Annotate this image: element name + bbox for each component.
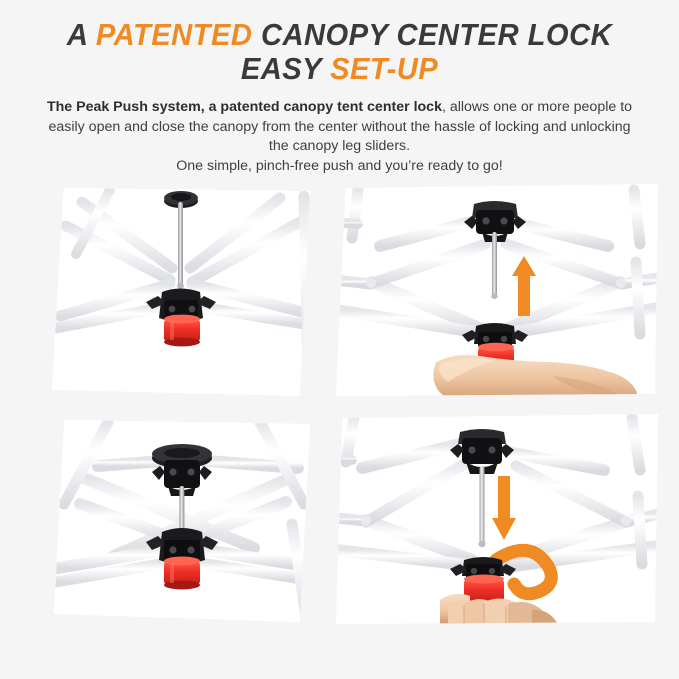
panel-caption: Two hands gripping the red puck with an … <box>336 414 337 415</box>
description-closing-line: One simple, pinch-free push and you’re r… <box>176 158 503 174</box>
headline-accent-setup: SET-UP <box>330 51 438 86</box>
headline-line-2: EASY SET-UP <box>241 51 438 86</box>
header-section: A PATENTED CANOPY CENTER LOCK EASY SET-U… <box>0 0 679 176</box>
panel-push-up: Hand supporting the red center lock puck… <box>336 184 658 396</box>
headline-text-c: EASY <box>241 51 330 86</box>
slider-rod <box>480 466 485 544</box>
headline-line-1: A PATENTED CANOPY CENTER LOCK <box>67 17 612 52</box>
red-push-puck <box>164 315 200 347</box>
canopy-push-down-illustration <box>336 414 658 624</box>
panel-caption: Canopy frame closed — center lock hub lo… <box>52 188 53 189</box>
description-paragraph: The Peak Push system, a patented canopy … <box>40 98 640 176</box>
slider-rod <box>492 232 497 296</box>
red-push-puck <box>164 557 200 590</box>
page-title: A PATENTED CANOPY CENTER LOCK EASY SET-U… <box>20 18 658 86</box>
canopy-open-locked-illustration <box>54 420 310 622</box>
slider-rod <box>178 202 183 286</box>
canopy-push-up-illustration <box>336 184 658 396</box>
panel-caption: Canopy frame fully opened and locked, sl… <box>54 420 55 421</box>
panel-push-down: Two hands gripping the red puck with an … <box>336 414 658 624</box>
headline-text-b: CANOPY CENTER LOCK <box>252 17 612 52</box>
headline-text-a: A <box>67 17 96 52</box>
product-image-grid: Canopy frame closed — center lock hub lo… <box>0 182 679 644</box>
panel-caption: Hand supporting the red center lock puck… <box>336 184 337 185</box>
headline-accent-patented: PATENTED <box>96 17 252 52</box>
panel-closed-top: Canopy frame closed — center lock hub lo… <box>52 188 310 396</box>
description-lead: The Peak Push system, a patented canopy … <box>47 99 442 115</box>
panel-open-locked: Canopy frame fully opened and locked, sl… <box>54 420 310 622</box>
canopy-frame-closed-illustration <box>52 188 310 396</box>
